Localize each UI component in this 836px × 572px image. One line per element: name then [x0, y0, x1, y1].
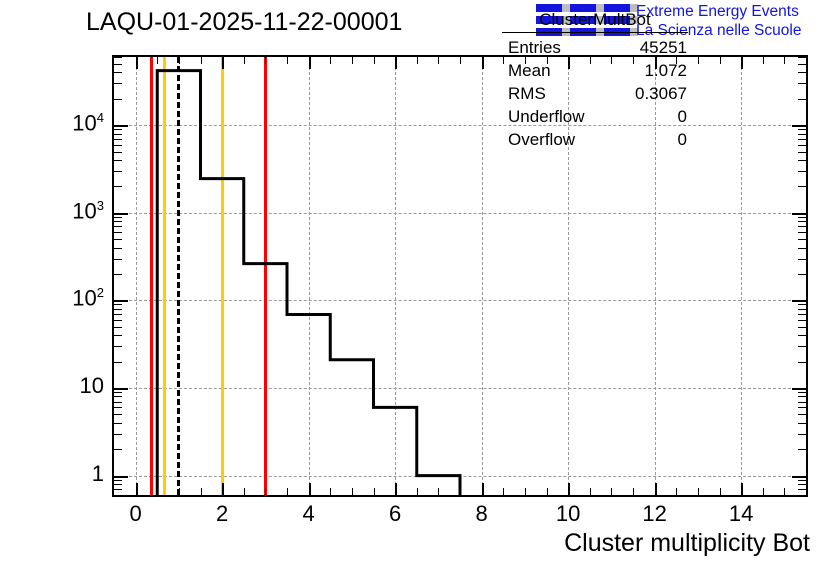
- y-tick-minor: [114, 346, 122, 347]
- x-tick-top-minor: [244, 57, 245, 64]
- stats-box-rows: Entries45251Mean1.072RMS0.3067Underflow0…: [500, 36, 690, 151]
- y-tick-right-minor: [798, 423, 806, 424]
- y-tick-right-minor: [798, 304, 806, 305]
- y-tick-minor: [114, 217, 122, 218]
- y-tick-minor: [114, 480, 122, 481]
- stats-key: Entries: [508, 37, 561, 58]
- x-tick-label: 6: [365, 501, 425, 527]
- y-tick-right-minor: [798, 309, 806, 310]
- y-tick-minor: [114, 64, 122, 65]
- stats-value: 0.3067: [635, 83, 687, 104]
- y-tick-right-minor: [798, 72, 806, 73]
- x-tick-minor: [438, 488, 439, 495]
- x-tick-minor: [287, 488, 288, 495]
- stats-key: Mean: [508, 60, 551, 81]
- x-tick-top-minor: [201, 57, 202, 64]
- y-tick-right-minor: [798, 57, 806, 58]
- x-tick-top-minor: [720, 57, 721, 64]
- y-tick-minor: [114, 152, 122, 153]
- x-tick-top-minor: [352, 57, 353, 64]
- x-tick-minor: [352, 488, 353, 495]
- y-tick-minor: [114, 309, 122, 310]
- y-tick-major: [114, 300, 128, 302]
- y-tick-minor: [114, 489, 122, 490]
- y-tick-right-major: [792, 125, 806, 127]
- x-tick-label: 4: [279, 501, 339, 527]
- stats-box: ClusterMultBot Entries45251Mean1.072RMS0…: [500, 10, 690, 151]
- y-tick-right-major: [792, 476, 806, 478]
- y-tick-right-minor: [798, 449, 806, 450]
- stats-row: Entries45251: [500, 36, 690, 59]
- stats-value: 45251: [640, 37, 687, 58]
- x-tick-minor: [201, 488, 202, 495]
- stats-row: Underflow0: [500, 105, 690, 128]
- y-tick-right-minor: [798, 414, 806, 415]
- y-tick-right-minor: [798, 217, 806, 218]
- x-tick-minor: [503, 488, 504, 495]
- y-tick-minor: [114, 396, 122, 397]
- x-tick-major: [395, 483, 397, 495]
- x-tick-minor: [590, 488, 591, 495]
- y-tick-minor: [114, 335, 122, 336]
- x-tick-top-minor: [374, 57, 375, 64]
- x-tick-top-minor: [265, 57, 266, 64]
- y-tick-minor: [114, 327, 122, 328]
- x-tick-label: 12: [625, 501, 685, 527]
- x-tick-minor: [763, 488, 764, 495]
- y-tick-label: 102: [34, 285, 104, 311]
- x-tick-top-major: [309, 57, 311, 69]
- x-tick-label: 8: [452, 501, 512, 527]
- y-tick-label: 10: [34, 373, 104, 399]
- y-tick-minor: [114, 392, 122, 393]
- y-tick-right-minor: [798, 327, 806, 328]
- y-tick-minor: [114, 274, 122, 275]
- y-tick-major: [114, 213, 128, 215]
- y-tick-minor: [114, 134, 122, 135]
- y-tick-minor: [114, 226, 122, 227]
- y-tick-minor: [114, 434, 122, 435]
- histogram-curve: [114, 57, 806, 495]
- y-tick-minor: [114, 320, 122, 321]
- x-tick-major: [482, 483, 484, 495]
- x-tick-top-minor: [460, 57, 461, 64]
- x-tick-minor: [374, 488, 375, 495]
- y-tick-minor: [114, 414, 122, 415]
- y-tick-right-major: [792, 300, 806, 302]
- stats-value: 0: [678, 106, 687, 127]
- y-tick-right-minor: [798, 152, 806, 153]
- stats-row: Mean1.072: [500, 59, 690, 82]
- stats-row: RMS0.3067: [500, 82, 690, 105]
- y-tick-right-minor: [798, 392, 806, 393]
- x-tick-label: 10: [538, 501, 598, 527]
- stats-box-title: ClusterMultBot: [502, 10, 688, 33]
- y-tick-right-minor: [798, 226, 806, 227]
- y-tick-label: 1: [34, 461, 104, 487]
- x-tick-top-major: [136, 57, 138, 69]
- x-tick-top-major: [395, 57, 397, 69]
- y-tick-right-minor: [798, 259, 806, 260]
- x-tick-label: 14: [711, 501, 771, 527]
- x-tick-major: [136, 483, 138, 495]
- x-tick-top-minor: [698, 57, 699, 64]
- x-tick-minor: [547, 488, 548, 495]
- y-tick-minor: [114, 57, 122, 58]
- y-tick-minor: [114, 72, 122, 73]
- y-tick-minor: [114, 139, 122, 140]
- y-tick-right-minor: [798, 434, 806, 435]
- x-tick-major: [741, 483, 743, 495]
- x-tick-minor: [784, 488, 785, 495]
- x-tick-top-major: [741, 57, 743, 69]
- y-tick-minor: [114, 160, 122, 161]
- y-tick-right-minor: [798, 489, 806, 490]
- y-tick-right-minor: [798, 171, 806, 172]
- y-tick-minor: [114, 186, 122, 187]
- y-tick-major: [114, 388, 128, 390]
- x-tick-minor: [525, 488, 526, 495]
- y-tick-minor: [114, 402, 122, 403]
- y-tick-minor: [114, 259, 122, 260]
- chart-canvas: LAQU-01-2025-11-22-00001 Extreme Energy …: [0, 0, 836, 572]
- y-tick-right-minor: [798, 335, 806, 336]
- y-tick-minor: [114, 239, 122, 240]
- y-tick-right-minor: [798, 145, 806, 146]
- y-tick-right-minor: [798, 232, 806, 233]
- x-tick-top-minor: [157, 57, 158, 64]
- y-tick-minor: [114, 362, 122, 363]
- x-tick-minor: [157, 488, 158, 495]
- y-tick-right-minor: [798, 362, 806, 363]
- stats-value: 1.072: [644, 60, 687, 81]
- page-title: LAQU-01-2025-11-22-00001: [86, 8, 402, 37]
- y-tick-right-minor: [798, 83, 806, 84]
- stats-row: Overflow0: [500, 128, 690, 151]
- x-tick-minor: [265, 488, 266, 495]
- histogram-outline: [157, 71, 460, 495]
- x-tick-top-minor: [179, 57, 180, 64]
- x-tick-minor: [698, 488, 699, 495]
- y-tick-major: [114, 476, 128, 478]
- x-tick-top-minor: [417, 57, 418, 64]
- y-tick-minor: [114, 83, 122, 84]
- y-tick-right-minor: [798, 402, 806, 403]
- stats-key: Underflow: [508, 106, 585, 127]
- y-tick-minor: [114, 484, 122, 485]
- y-tick-minor: [114, 221, 122, 222]
- y-tick-right-minor: [798, 129, 806, 130]
- y-tick-right-minor: [798, 320, 806, 321]
- x-tick-minor: [633, 488, 634, 495]
- x-tick-minor: [611, 488, 612, 495]
- x-tick-minor: [179, 488, 180, 495]
- x-tick-major: [309, 483, 311, 495]
- y-tick-minor: [114, 248, 122, 249]
- y-tick-right-minor: [798, 186, 806, 187]
- y-tick-minor: [114, 232, 122, 233]
- y-tick-right-minor: [798, 221, 806, 222]
- y-tick-right-minor: [798, 248, 806, 249]
- y-tick-right-minor: [798, 99, 806, 100]
- y-tick-right-minor: [798, 139, 806, 140]
- y-tick-right-minor: [798, 407, 806, 408]
- x-axis-title: Cluster multiplicity Bot: [564, 529, 810, 558]
- x-tick-minor: [460, 488, 461, 495]
- y-tick-right-minor: [798, 134, 806, 135]
- y-tick-minor: [114, 407, 122, 408]
- y-tick-label: 104: [34, 110, 104, 136]
- y-tick-right-minor: [798, 314, 806, 315]
- y-tick-major: [114, 125, 128, 127]
- stats-key: RMS: [508, 83, 546, 104]
- x-tick-minor: [330, 488, 331, 495]
- x-tick-label: 2: [192, 501, 252, 527]
- x-tick-top-minor: [330, 57, 331, 64]
- x-tick-top-minor: [763, 57, 764, 64]
- stats-value: 0: [678, 129, 687, 150]
- y-tick-minor: [114, 423, 122, 424]
- y-tick-minor: [114, 304, 122, 305]
- y-tick-minor: [114, 449, 122, 450]
- x-tick-top-major: [482, 57, 484, 69]
- y-tick-right-minor: [798, 396, 806, 397]
- stats-key: Overflow: [508, 129, 575, 150]
- x-tick-minor: [676, 488, 677, 495]
- x-tick-minor: [720, 488, 721, 495]
- y-tick-minor: [114, 314, 122, 315]
- y-tick-right-minor: [798, 480, 806, 481]
- y-tick-minor: [114, 129, 122, 130]
- x-tick-top-minor: [287, 57, 288, 64]
- y-tick-right-minor: [798, 239, 806, 240]
- x-tick-minor: [417, 488, 418, 495]
- plot-frame: [112, 55, 808, 497]
- y-tick-label: 103: [34, 198, 104, 224]
- x-tick-minor: [244, 488, 245, 495]
- x-tick-major: [655, 483, 657, 495]
- y-tick-minor: [114, 171, 122, 172]
- y-tick-right-major: [792, 213, 806, 215]
- y-tick-right-minor: [798, 274, 806, 275]
- y-tick-right-minor: [798, 64, 806, 65]
- x-tick-major: [222, 483, 224, 495]
- y-tick-right-minor: [798, 484, 806, 485]
- x-tick-top-major: [222, 57, 224, 69]
- y-tick-right-major: [792, 388, 806, 390]
- x-tick-top-minor: [784, 57, 785, 64]
- x-tick-top-minor: [806, 57, 807, 64]
- x-tick-major: [568, 483, 570, 495]
- y-tick-right-minor: [798, 160, 806, 161]
- y-tick-minor: [114, 145, 122, 146]
- y-tick-right-minor: [798, 346, 806, 347]
- x-tick-label: 0: [106, 501, 166, 527]
- x-tick-top-minor: [438, 57, 439, 64]
- x-tick-minor: [806, 488, 807, 495]
- y-tick-minor: [114, 99, 122, 100]
